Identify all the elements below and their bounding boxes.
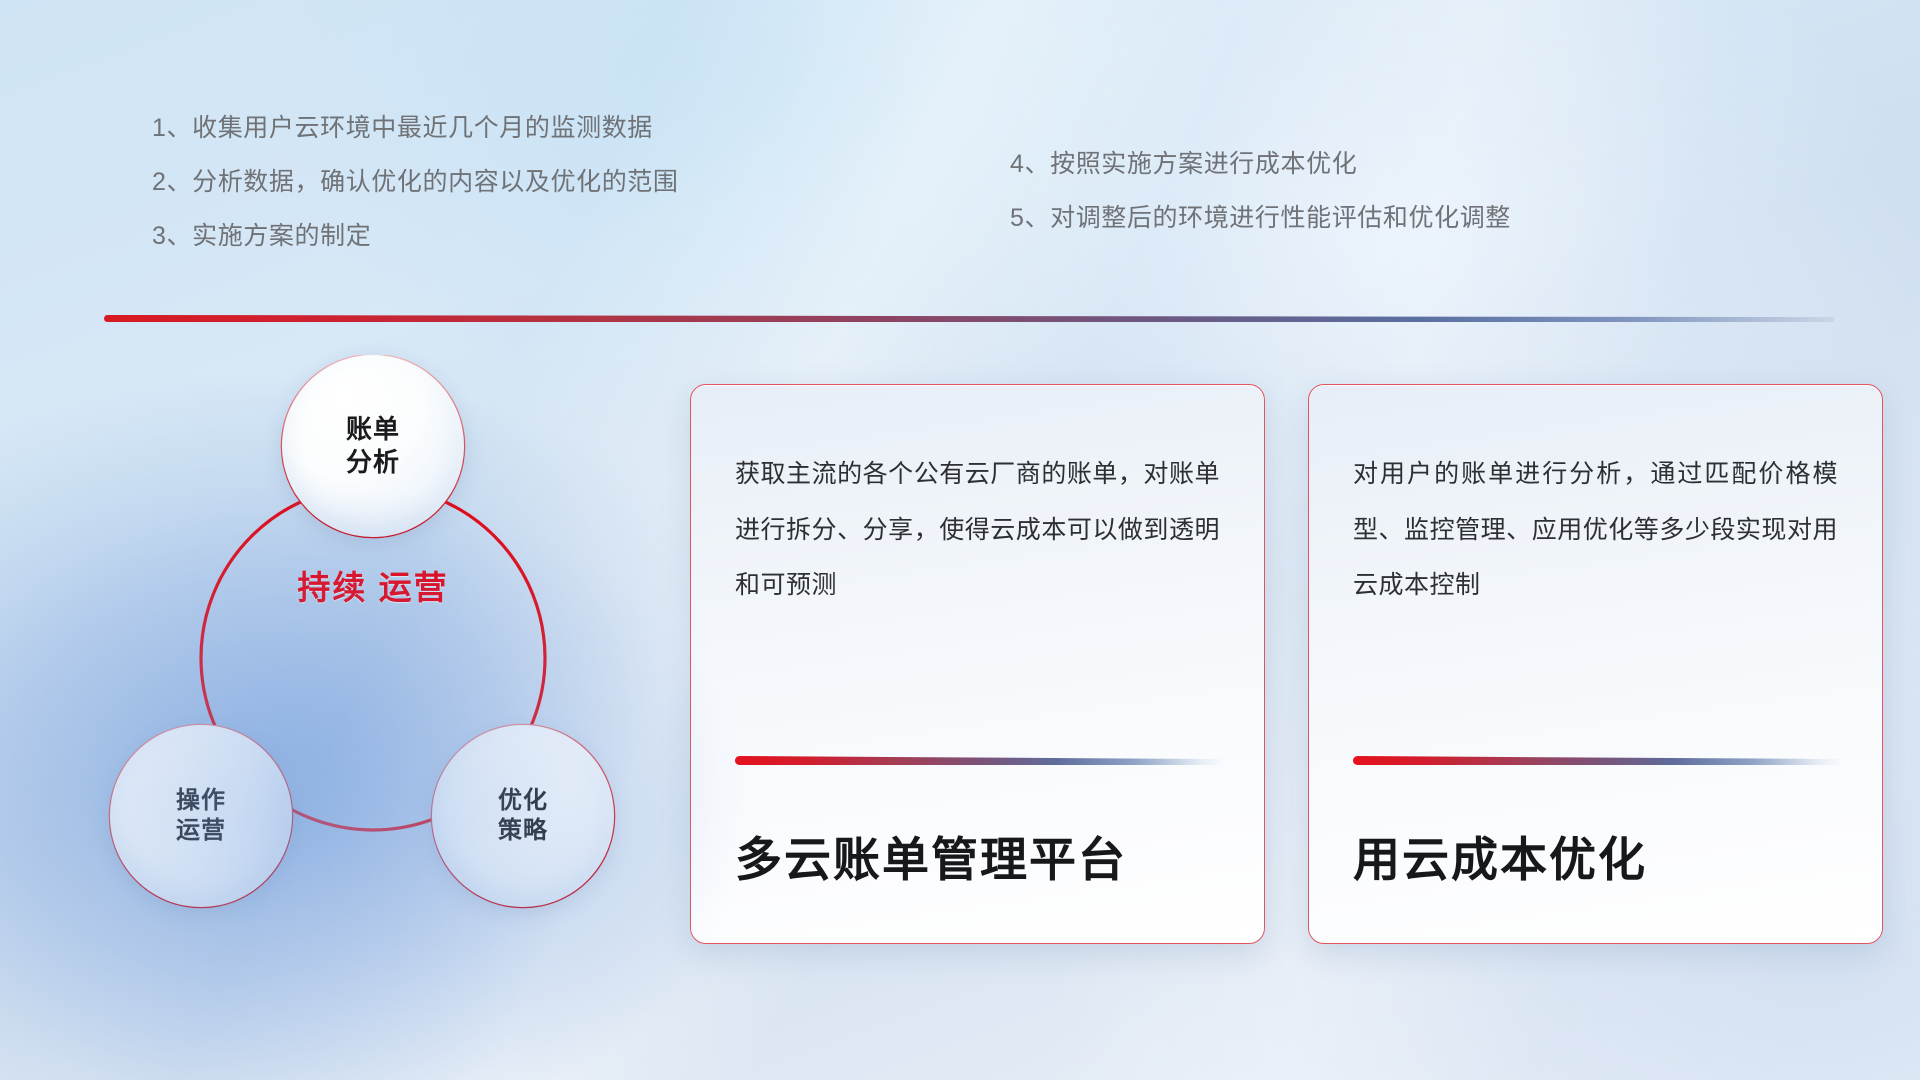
info-card-body: 获取主流的各个公有云厂商的账单，对账单进行拆分、分享，使得云成本可以做到透明和可… <box>735 447 1220 614</box>
info-card-body: 对用户的账单进行分析，通过匹配价格模型、监控管理、应用优化等多少段实现对用云成本… <box>1353 447 1838 614</box>
info-card-accent-rule <box>1353 756 1840 765</box>
venn-bubble-label-line1: 优化 <box>498 786 548 816</box>
venn-bubble-label-line2: 分析 <box>346 446 400 479</box>
info-card-title: 多云账单管理平台 <box>735 833 1127 887</box>
steps-list-left: 1、收集用户云环境中最近几个月的监测数据 2、分析数据，确认优化的内容以及优化的… <box>152 116 679 278</box>
step-item: 2、分析数据，确认优化的内容以及优化的范围 <box>152 170 679 195</box>
section-divider <box>104 315 1834 322</box>
info-card-multicloud-billing[interactable]: 获取主流的各个公有云厂商的账单，对账单进行拆分、分享，使得云成本可以做到透明和可… <box>690 384 1265 944</box>
venn-bubble-optimization-strategy[interactable]: 优化 策略 <box>432 725 614 907</box>
venn-bubble-operations[interactable]: 操作 运营 <box>110 725 292 907</box>
venn-bubble-label-line1: 账单 <box>346 413 400 446</box>
info-card-cost-optimization[interactable]: 对用户的账单进行分析，通过匹配价格模型、监控管理、应用优化等多少段实现对用云成本… <box>1308 384 1883 944</box>
step-item: 1、收集用户云环境中最近几个月的监测数据 <box>152 116 679 141</box>
venn-center-label-line2: 运营 <box>379 569 449 606</box>
step-item: 3、实施方案的制定 <box>152 224 679 249</box>
step-item: 5、对调整后的环境进行性能评估和优化调整 <box>1010 206 1511 231</box>
venn-bubble-label-line2: 运营 <box>176 816 226 846</box>
venn-bubble-label-line1: 操作 <box>176 786 226 816</box>
steps-list-right: 4、按照实施方案进行成本优化 5、对调整后的环境进行性能评估和优化调整 <box>1010 152 1511 260</box>
venn-center-label: 持续 运营 <box>282 567 464 610</box>
venn-diagram: 账单 分析 操作 运营 优化 策略 持续 运营 <box>96 355 656 915</box>
slide-canvas: 1、收集用户云环境中最近几个月的监测数据 2、分析数据，确认优化的内容以及优化的… <box>0 0 1920 1080</box>
step-item: 4、按照实施方案进行成本优化 <box>1010 152 1511 177</box>
venn-bubble-billing-analysis[interactable]: 账单 分析 <box>282 355 464 537</box>
venn-bubble-label-line2: 策略 <box>498 816 548 846</box>
venn-center-label-line1: 持续 <box>297 569 367 606</box>
info-card-accent-rule <box>735 756 1222 765</box>
info-card-title: 用云成本优化 <box>1353 833 1647 887</box>
